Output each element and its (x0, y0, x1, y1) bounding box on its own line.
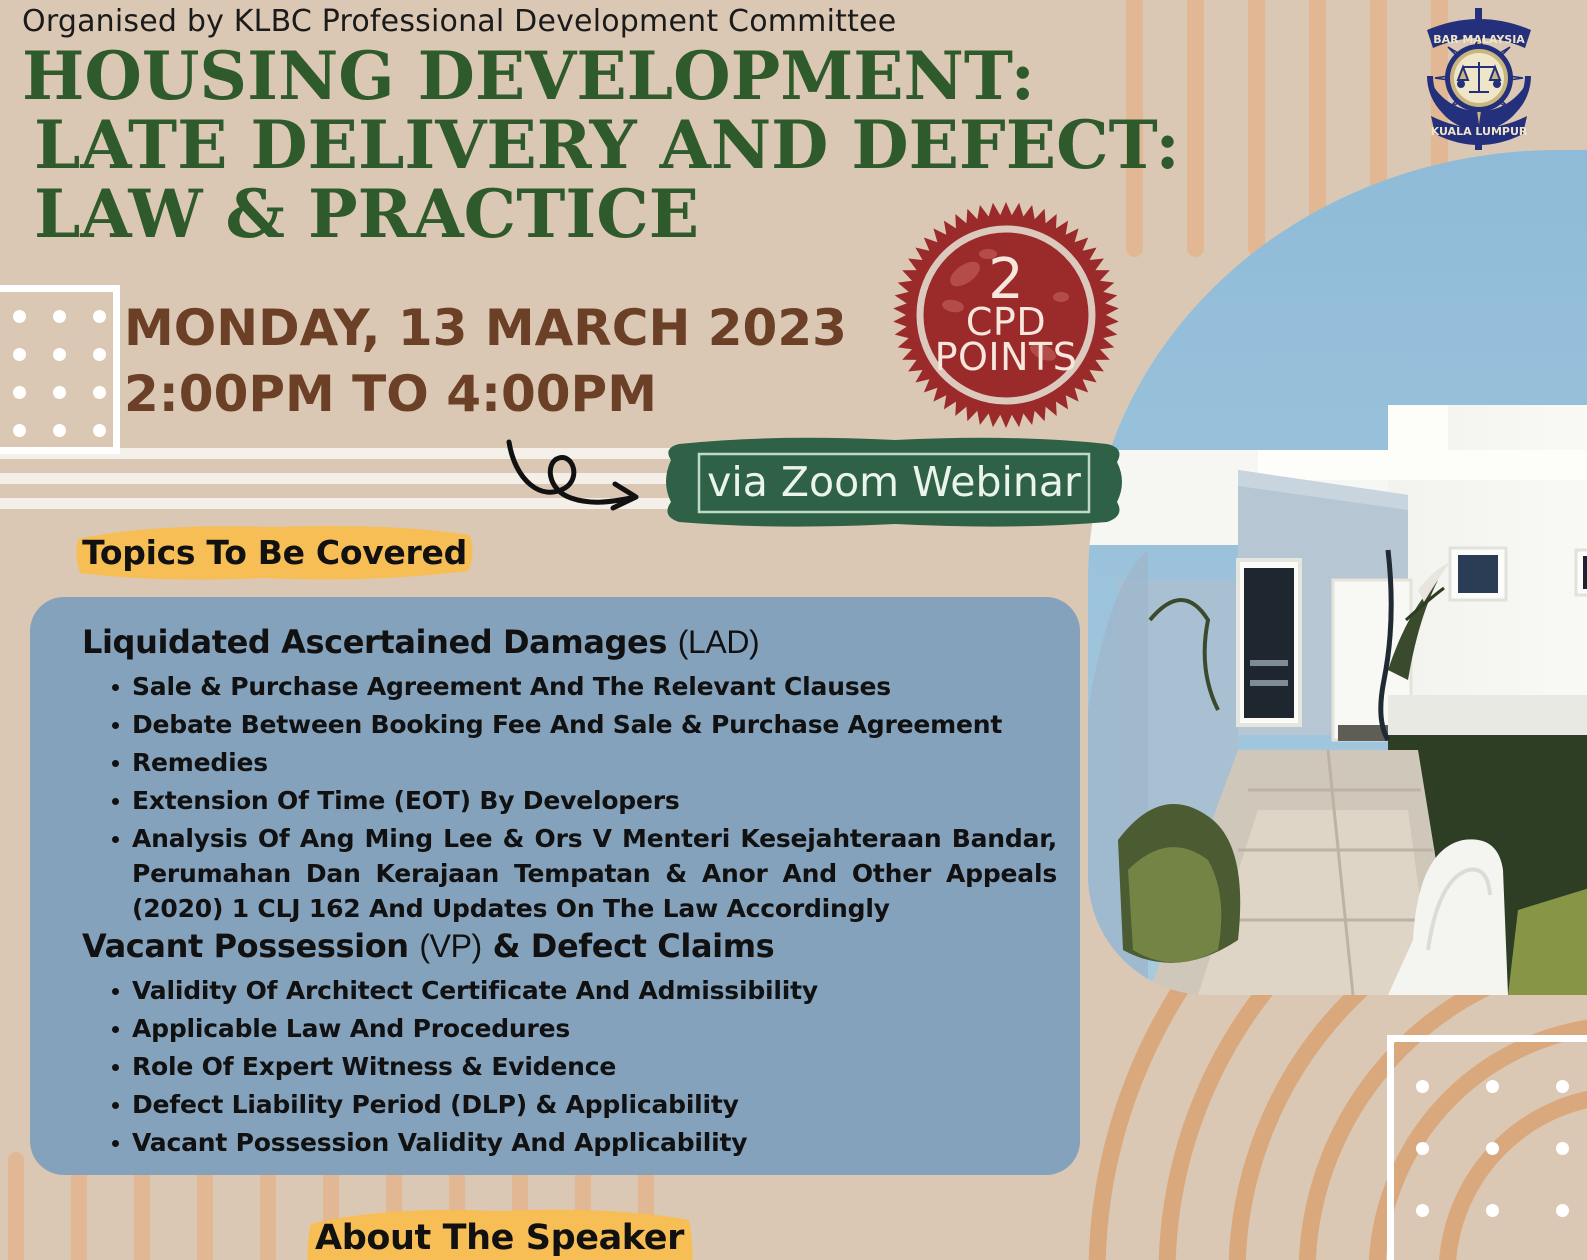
event-datetime: MONDAY, 13 MARCH 2023 2:00PM TO 4:00PM (124, 295, 847, 427)
topic-list-lad: Sale & Purchase Agreement And The Releva… (104, 669, 1057, 926)
list-item: Role Of Expert Witness & Evidence (104, 1049, 1057, 1084)
list-item: Defect Liability Period (DLP) & Applicab… (104, 1087, 1057, 1122)
topics-badge: Topics To Be Covered (72, 521, 477, 584)
decorative-dot-box-bottom-right (1387, 1035, 1587, 1260)
topic-group-title-lad: Liquidated Ascertained Damages (LAD) (82, 623, 1057, 661)
cpd-points-badge: 2 CPD POINTS (893, 202, 1119, 428)
crest-top-text: BAR MALAYSIA (1433, 33, 1525, 46)
topic-group-title-vp: Vacant Possession (VP) & Defect Claims (82, 927, 1057, 965)
list-item: Debate Between Booking Fee And Sale & Pu… (104, 707, 1057, 742)
list-item: Vacant Possession Validity And Applicabi… (104, 1125, 1057, 1160)
vp-title-suffix: & Defect Claims (493, 927, 775, 965)
list-item: Sale & Purchase Agreement And The Releva… (104, 669, 1057, 704)
organiser-line: Organised by KLBC Professional Developme… (22, 4, 896, 39)
list-item: Extension Of Time (EOT) By Developers (104, 783, 1057, 818)
zoom-webinar-pill: via Zoom Webinar (655, 432, 1133, 532)
about-speaker-badge: About The Speaker (303, 1204, 696, 1260)
list-item: Applicable Law And Procedures (104, 1011, 1057, 1046)
event-time: 2:00PM TO 4:00PM (124, 361, 847, 427)
topics-panel: Liquidated Ascertained Damages (LAD) Sal… (30, 597, 1080, 1175)
title-line-1: HOUSING DEVELOPMENT: (22, 42, 1352, 111)
topic-list-vp: Validity Of Architect Certificate And Ad… (104, 973, 1057, 1160)
topics-badge-label: Topics To Be Covered (72, 521, 477, 584)
curly-arrow-icon (495, 432, 660, 512)
decorative-dot-box-top-left (0, 285, 120, 454)
vp-title-text: Vacant Possession (82, 927, 409, 965)
vp-title-abbrev: (VP) (419, 928, 481, 964)
house-photo (1088, 150, 1587, 995)
topic-group-lad: Liquidated Ascertained Damages (LAD) Sal… (82, 623, 1057, 929)
poster-canvas: BAR MALAYSIA KUALA LUMPUR Organised by K… (0, 0, 1587, 1260)
zoom-webinar-label: via Zoom Webinar (655, 432, 1133, 532)
lad-title-abbrev: (LAD) (678, 624, 760, 660)
page-title: HOUSING DEVELOPMENT: LATE DELIVERY AND D… (22, 42, 1352, 249)
list-item: Validity Of Architect Certificate And Ad… (104, 973, 1057, 1008)
title-line-2: LATE DELIVERY AND DEFECT: (34, 111, 1352, 180)
crest-bottom-text: KUALA LUMPUR (1431, 125, 1528, 138)
bar-malaysia-crest-icon: BAR MALAYSIA KUALA LUMPUR (1413, 4, 1545, 154)
title-line-3: LAW & PRACTICE (34, 180, 1352, 249)
event-date: MONDAY, 13 MARCH 2023 (124, 295, 847, 361)
lad-title-text: Liquidated Ascertained Damages (82, 623, 667, 661)
topic-group-vp: Vacant Possession (VP) & Defect Claims V… (82, 927, 1057, 1163)
about-speaker-label: About The Speaker (303, 1218, 696, 1258)
list-item: Remedies (104, 745, 1057, 780)
list-item: Analysis Of Ang Ming Lee & Ors V Menteri… (104, 821, 1057, 926)
